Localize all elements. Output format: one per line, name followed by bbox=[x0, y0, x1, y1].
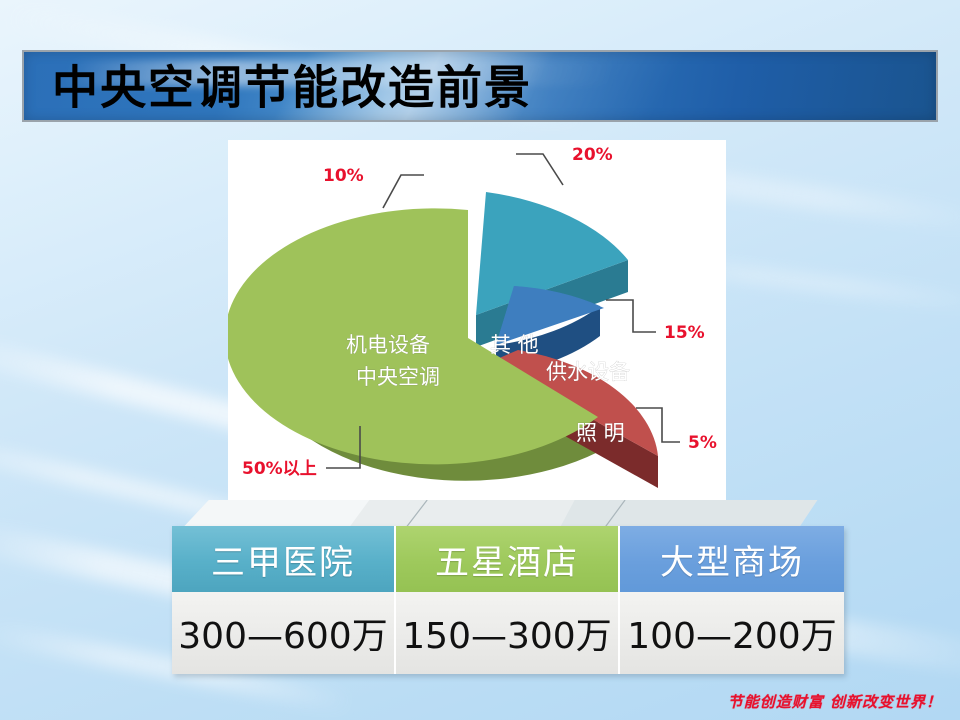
table-column-mall: 大型商场 100—200万 bbox=[620, 526, 844, 674]
table-header-mall: 大型商场 bbox=[620, 526, 844, 592]
page-title: 中央空调节能改造前景 bbox=[52, 52, 532, 118]
leader-line-electromechanical bbox=[383, 175, 424, 208]
slice-label-central-ac: 中央空调 bbox=[356, 365, 440, 389]
table-column-hospital: 三甲医院 300—600万 bbox=[172, 526, 396, 674]
table-cell-mall-value: 100—200万 bbox=[620, 592, 844, 674]
comparison-table: 三甲医院 300—600万 五星酒店 150—300万 大型商场 100—200… bbox=[160, 500, 840, 680]
leader-line-other bbox=[516, 154, 563, 185]
pie-chart: 中央空调 机电设备 其 他 照 明 供水设备 20% 10% 15% 5% 50… bbox=[228, 140, 726, 503]
pie-chart-panel: 中央空调 机电设备 其 他 照 明 供水设备 20% 10% 15% 5% 50… bbox=[228, 140, 726, 503]
slide-canvas: 中央空调节能改造前景 bbox=[0, 0, 960, 720]
table-header-hospital: 三甲医院 bbox=[172, 526, 396, 592]
title-banner: 中央空调节能改造前景 bbox=[22, 50, 938, 122]
table-cell-hospital-value: 300—600万 bbox=[172, 592, 396, 674]
pct-label-electromechanical: 10% bbox=[323, 166, 364, 186]
slice-label-other: 其 他 bbox=[490, 333, 539, 357]
pct-label-central-ac: 50%以上 bbox=[242, 459, 317, 479]
table-header-hotel: 五星酒店 bbox=[396, 526, 620, 592]
table-body: 三甲医院 300—600万 五星酒店 150—300万 大型商场 100—200… bbox=[172, 526, 844, 674]
footer-slogan: 节能创造财富 创新改变世界！ bbox=[728, 691, 942, 712]
pct-label-water-supply: 5% bbox=[688, 433, 717, 453]
table-3d-top-bevel bbox=[160, 500, 840, 528]
pct-label-lighting: 15% bbox=[664, 323, 705, 343]
slice-label-water-supply: 供水设备 bbox=[546, 360, 630, 384]
leader-line-lighting bbox=[606, 300, 656, 332]
slice-label-electromechanical: 机电设备 bbox=[346, 333, 430, 357]
table-column-hotel: 五星酒店 150—300万 bbox=[396, 526, 620, 674]
table-cell-hotel-value: 150—300万 bbox=[396, 592, 620, 674]
slice-label-lighting: 照 明 bbox=[576, 421, 625, 445]
pct-label-other: 20% bbox=[572, 145, 613, 165]
